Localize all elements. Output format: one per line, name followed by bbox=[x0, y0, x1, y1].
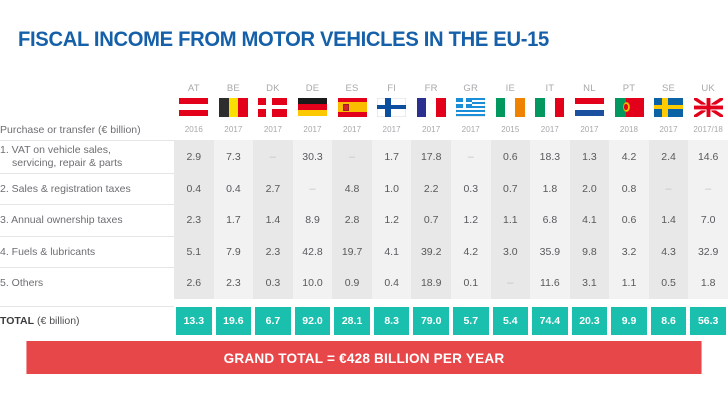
cell-value: 8.9 bbox=[305, 214, 320, 226]
cell-value: 11.6 bbox=[540, 277, 560, 289]
flag-wrapper bbox=[214, 98, 254, 117]
cell-value: 4.1 bbox=[384, 246, 399, 258]
country-code-cell: NL bbox=[570, 78, 610, 94]
cell-value: 0.3 bbox=[266, 277, 281, 289]
data-cell: 10.0 bbox=[293, 268, 333, 300]
spacer-cell bbox=[214, 299, 254, 306]
total-value: 6.7 bbox=[255, 307, 291, 335]
reference-year-cell: 2017 bbox=[253, 120, 293, 140]
country-flag-cell bbox=[491, 94, 531, 120]
country-flag-cell bbox=[372, 94, 412, 120]
total-value: 92.0 bbox=[295, 307, 331, 335]
cell-value: 18.9 bbox=[421, 277, 441, 289]
total-cell: 5.4 bbox=[491, 306, 531, 336]
row-label-line1: 1. VAT on vehicle sales, bbox=[0, 144, 174, 157]
data-cell: 0.3 bbox=[253, 268, 293, 300]
row-label-line1: 4. Fuels & lubricants bbox=[0, 246, 174, 259]
reference-year-cell: 2017 bbox=[570, 120, 610, 140]
reference-year-cell: 2017 bbox=[530, 120, 570, 140]
spacer-cell bbox=[411, 299, 451, 306]
reference-year: 2017 bbox=[649, 125, 689, 135]
country-flag-cell bbox=[332, 94, 372, 120]
cell-value: 4.1 bbox=[582, 214, 597, 226]
country-flag-cell bbox=[688, 94, 728, 120]
cell-value: 0.1 bbox=[463, 277, 478, 289]
country-flag-cell bbox=[411, 94, 451, 120]
data-cell: – bbox=[451, 140, 491, 173]
flag-wrapper bbox=[451, 98, 491, 117]
flag-wrapper bbox=[372, 98, 412, 117]
table-row: 5. Others2.62.30.310.00.90.418.90.1–11.6… bbox=[0, 268, 728, 300]
country-code-cell: SE bbox=[649, 78, 689, 94]
flag-sweden bbox=[654, 98, 683, 117]
table-row: 3. Annual ownership taxes2.31.71.48.92.8… bbox=[0, 205, 728, 237]
flag-wrapper bbox=[609, 98, 649, 117]
country-code-cell: UK bbox=[688, 78, 728, 94]
flag-wrapper bbox=[530, 98, 570, 117]
data-cell: 1.0 bbox=[372, 173, 412, 205]
row-label: 4. Fuels & lubricants bbox=[0, 236, 174, 268]
country-flag-cell bbox=[649, 94, 689, 120]
country-code-es: ES bbox=[332, 83, 372, 94]
spacer-cell bbox=[530, 299, 570, 306]
data-cell: 2.3 bbox=[174, 205, 214, 237]
cell-value: 2.3 bbox=[187, 214, 202, 226]
data-cell: 2.7 bbox=[253, 173, 293, 205]
spacer-cell bbox=[0, 78, 174, 94]
cell-value: 32.9 bbox=[698, 246, 718, 258]
country-code-cell: BE bbox=[214, 78, 254, 94]
reference-year: 2017 bbox=[332, 125, 372, 135]
data-cell: 1.1 bbox=[609, 268, 649, 300]
total-value: 79.0 bbox=[413, 307, 449, 335]
cell-value: 2.8 bbox=[345, 214, 360, 226]
table-spacer-row bbox=[0, 299, 728, 306]
country-flag-cell bbox=[174, 94, 214, 120]
cell-value: 4.2 bbox=[622, 151, 637, 163]
spacer-cell bbox=[0, 299, 174, 306]
data-cell: 0.9 bbox=[332, 268, 372, 300]
cell-value: 0.6 bbox=[622, 214, 637, 226]
cell-value: 42.8 bbox=[302, 246, 322, 258]
flag-wrapper bbox=[174, 98, 214, 117]
data-cell: 4.8 bbox=[332, 173, 372, 205]
total-row: TOTAL (€ billion)13.319.66.792.028.18.37… bbox=[0, 306, 728, 336]
spacer-cell bbox=[609, 299, 649, 306]
reference-year: 2017 bbox=[293, 125, 333, 135]
country-code-cell: IT bbox=[530, 78, 570, 94]
infographic-page: FISCAL INCOME FROM MOTOR VEHICLES IN THE… bbox=[0, 0, 728, 410]
reference-year-cell: 2017/18 bbox=[688, 120, 728, 140]
row-label-line1: 5. Others bbox=[0, 277, 174, 290]
country-code-cell: FI bbox=[372, 78, 412, 94]
spacer-cell bbox=[332, 299, 372, 306]
reference-year-cell: 2017 bbox=[372, 120, 412, 140]
total-cell: 92.0 bbox=[293, 306, 333, 336]
cell-value: 3.1 bbox=[582, 277, 597, 289]
cell-value: 1.1 bbox=[622, 277, 637, 289]
data-cell: 4.3 bbox=[649, 236, 689, 268]
reference-year: 2016 bbox=[174, 125, 214, 135]
row-label-line1: 2. Sales & registration taxes bbox=[0, 183, 174, 196]
total-cell: 6.7 bbox=[253, 306, 293, 336]
cell-value: 1.8 bbox=[543, 183, 558, 195]
cell-value: – bbox=[666, 183, 672, 195]
data-cell: 1.2 bbox=[451, 205, 491, 237]
spacer-cell bbox=[570, 299, 610, 306]
country-code-row: ATBEDKDEESFIFRGRIEITNLPTSEUK bbox=[0, 78, 728, 94]
reference-year: 2017 bbox=[411, 125, 451, 135]
reference-year: 2017 bbox=[372, 125, 412, 135]
row-label: 1. VAT on vehicle sales,servicing, repai… bbox=[0, 140, 174, 173]
data-cell: 2.3 bbox=[253, 236, 293, 268]
data-cell: 2.8 bbox=[332, 205, 372, 237]
data-cell: 7.3 bbox=[214, 140, 254, 173]
table-row: 2. Sales & registration taxes0.40.42.7–4… bbox=[0, 173, 728, 205]
page-title: FISCAL INCOME FROM MOTOR VEHICLES IN THE… bbox=[18, 27, 549, 52]
country-flag-cell bbox=[293, 94, 333, 120]
cell-value: 4.8 bbox=[345, 183, 360, 195]
total-cell: 9.9 bbox=[609, 306, 649, 336]
total-label-unit: (€ billion) bbox=[34, 315, 80, 327]
country-code-cell: AT bbox=[174, 78, 214, 94]
cell-value: 2.4 bbox=[661, 151, 676, 163]
country-code-fi: FI bbox=[372, 83, 412, 94]
cell-value: 6.8 bbox=[543, 214, 558, 226]
table-row: 1. VAT on vehicle sales,servicing, repai… bbox=[0, 140, 728, 173]
data-cell: 30.3 bbox=[293, 140, 333, 173]
country-flag-cell bbox=[214, 94, 254, 120]
spacer-cell bbox=[174, 299, 214, 306]
reference-year: 2017 bbox=[451, 125, 491, 135]
cell-value: 0.4 bbox=[187, 183, 202, 195]
data-cell: 2.9 bbox=[174, 140, 214, 173]
cell-value: 1.7 bbox=[226, 214, 241, 226]
data-cell: 39.2 bbox=[411, 236, 451, 268]
country-code-dk: DK bbox=[253, 83, 293, 94]
cell-value: 30.3 bbox=[302, 151, 322, 163]
cell-value: 2.3 bbox=[226, 277, 241, 289]
data-cell: 0.1 bbox=[451, 268, 491, 300]
data-cell: 1.2 bbox=[372, 205, 412, 237]
country-flag-row bbox=[0, 94, 728, 120]
data-cell: 0.6 bbox=[491, 140, 531, 173]
row-label: 5. Others bbox=[0, 268, 174, 300]
total-value: 9.9 bbox=[611, 307, 647, 335]
row-label-line2: servicing, repair & parts bbox=[0, 157, 174, 170]
data-cell: 4.1 bbox=[570, 205, 610, 237]
reference-year-cell: 2017 bbox=[649, 120, 689, 140]
country-code-fr: FR bbox=[411, 83, 451, 94]
total-cell: 8.6 bbox=[649, 306, 689, 336]
flag-netherlands bbox=[575, 98, 604, 117]
total-value: 74.4 bbox=[532, 307, 568, 335]
cell-value: – bbox=[349, 151, 355, 163]
data-cell: – bbox=[332, 140, 372, 173]
total-cell: 19.6 bbox=[214, 306, 254, 336]
total-label-bold: TOTAL bbox=[0, 315, 34, 327]
flag-wrapper bbox=[688, 98, 728, 117]
data-cell: 3.0 bbox=[491, 236, 531, 268]
country-flag-cell bbox=[609, 94, 649, 120]
cell-value: 0.7 bbox=[424, 214, 439, 226]
flag-denmark bbox=[258, 98, 287, 117]
cell-value: 1.0 bbox=[384, 183, 399, 195]
data-cell: 3.1 bbox=[570, 268, 610, 300]
data-cell: 18.9 bbox=[411, 268, 451, 300]
total-value: 56.3 bbox=[690, 307, 726, 335]
cell-value: 4.2 bbox=[463, 246, 478, 258]
cell-value: 0.5 bbox=[661, 277, 676, 289]
cell-value: 18.3 bbox=[540, 151, 560, 163]
data-cell: 19.7 bbox=[332, 236, 372, 268]
reference-year-cell: 2017 bbox=[214, 120, 254, 140]
data-cell: – bbox=[649, 173, 689, 205]
cell-value: 2.6 bbox=[187, 277, 202, 289]
country-code-cell: ES bbox=[332, 78, 372, 94]
country-flag-cell bbox=[253, 94, 293, 120]
reference-year-cell: 2018 bbox=[609, 120, 649, 140]
cell-value: 9.8 bbox=[582, 246, 597, 258]
cell-value: 1.1 bbox=[503, 214, 518, 226]
total-value: 13.3 bbox=[176, 307, 212, 335]
country-code-cell: DE bbox=[293, 78, 333, 94]
data-cell: 1.4 bbox=[253, 205, 293, 237]
data-cell: – bbox=[253, 140, 293, 173]
country-code-se: SE bbox=[649, 83, 689, 94]
flag-wrapper bbox=[411, 98, 451, 117]
data-cell: 17.8 bbox=[411, 140, 451, 173]
total-value: 19.6 bbox=[216, 307, 252, 335]
data-cell: 3.2 bbox=[609, 236, 649, 268]
flag-wrapper bbox=[649, 98, 689, 117]
country-code-nl: NL bbox=[570, 83, 610, 94]
total-value: 5.7 bbox=[453, 307, 489, 335]
flag-austria bbox=[179, 98, 208, 117]
spacer-cell bbox=[372, 299, 412, 306]
cell-value: 7.9 bbox=[226, 246, 241, 258]
cell-value: 2.7 bbox=[266, 183, 281, 195]
data-cell: 1.1 bbox=[491, 205, 531, 237]
data-cell: 2.0 bbox=[570, 173, 610, 205]
cell-value: 2.9 bbox=[187, 151, 202, 163]
reference-year: 2017 bbox=[570, 125, 610, 135]
cell-value: 0.4 bbox=[226, 183, 241, 195]
flag-finland bbox=[377, 98, 406, 117]
country-code-cell: IE bbox=[491, 78, 531, 94]
data-cell: 42.8 bbox=[293, 236, 333, 268]
cell-value: 1.4 bbox=[661, 214, 676, 226]
country-code-uk: UK bbox=[688, 83, 728, 94]
total-row-label: TOTAL (€ billion) bbox=[0, 306, 174, 336]
cell-value: 17.8 bbox=[421, 151, 441, 163]
reference-year-row: Purchase or transfer (€ billion)20162017… bbox=[0, 120, 728, 140]
fiscal-income-table: ATBEDKDEESFIFRGRIEITNLPTSEUKPurchase or … bbox=[0, 78, 728, 336]
data-cell: 1.8 bbox=[688, 268, 728, 300]
data-cell: – bbox=[491, 268, 531, 300]
country-flag-cell bbox=[570, 94, 610, 120]
cell-value: 7.3 bbox=[226, 151, 241, 163]
table-header-label: Purchase or transfer (€ billion) bbox=[0, 120, 174, 140]
total-cell: 5.7 bbox=[451, 306, 491, 336]
cell-value: 1.4 bbox=[266, 214, 281, 226]
cell-value: 5.1 bbox=[187, 246, 202, 258]
reference-year-cell: 2016 bbox=[174, 120, 214, 140]
reference-year-cell: 2017 bbox=[451, 120, 491, 140]
country-code-cell: DK bbox=[253, 78, 293, 94]
country-flag-cell bbox=[451, 94, 491, 120]
flag-wrapper bbox=[332, 98, 372, 117]
data-cell: 4.2 bbox=[609, 140, 649, 173]
cell-value: 1.2 bbox=[384, 214, 399, 226]
flag-italy bbox=[535, 98, 564, 117]
total-value: 8.6 bbox=[651, 307, 687, 335]
flag-wrapper bbox=[491, 98, 531, 117]
cell-value: 14.6 bbox=[698, 151, 718, 163]
flag-wrapper bbox=[253, 98, 293, 117]
country-code-at: AT bbox=[174, 83, 214, 94]
cell-value: 1.7 bbox=[384, 151, 399, 163]
flag-unitedkingdom bbox=[694, 98, 723, 117]
data-cell: 4.2 bbox=[451, 236, 491, 268]
data-cell: 2.3 bbox=[214, 268, 254, 300]
data-cell: 1.7 bbox=[214, 205, 254, 237]
spacer-cell bbox=[253, 299, 293, 306]
spacer-cell bbox=[0, 94, 174, 120]
reference-year-cell: 2017 bbox=[332, 120, 372, 140]
spacer-cell bbox=[451, 299, 491, 306]
total-cell: 13.3 bbox=[174, 306, 214, 336]
country-code-it: IT bbox=[530, 83, 570, 94]
cell-value: 1.2 bbox=[463, 214, 478, 226]
data-cell: 2.6 bbox=[174, 268, 214, 300]
data-cell: – bbox=[293, 173, 333, 205]
cell-value: 0.8 bbox=[622, 183, 637, 195]
data-cell: 9.8 bbox=[570, 236, 610, 268]
cell-value: – bbox=[270, 151, 276, 163]
data-cell: 8.9 bbox=[293, 205, 333, 237]
flag-spain bbox=[338, 98, 367, 117]
reference-year-cell: 2015 bbox=[491, 120, 531, 140]
data-cell: 35.9 bbox=[530, 236, 570, 268]
data-cell: 0.7 bbox=[491, 173, 531, 205]
row-label: 3. Annual ownership taxes bbox=[0, 205, 174, 237]
reference-year-cell: 2017 bbox=[293, 120, 333, 140]
spacer-cell bbox=[649, 299, 689, 306]
row-label: 2. Sales & registration taxes bbox=[0, 173, 174, 205]
data-cell: 11.6 bbox=[530, 268, 570, 300]
country-code-cell: FR bbox=[411, 78, 451, 94]
total-value: 5.4 bbox=[493, 307, 529, 335]
total-cell: 56.3 bbox=[688, 306, 728, 336]
row-label-line1: 3. Annual ownership taxes bbox=[0, 214, 174, 227]
cell-value: 19.7 bbox=[342, 246, 362, 258]
cell-value: 3.0 bbox=[503, 246, 518, 258]
cell-value: – bbox=[507, 277, 513, 289]
spacer-cell bbox=[293, 299, 333, 306]
data-cell: 1.7 bbox=[372, 140, 412, 173]
cell-value: 7.0 bbox=[701, 214, 716, 226]
cell-value: – bbox=[705, 183, 711, 195]
data-cell: 0.5 bbox=[649, 268, 689, 300]
country-code-be: BE bbox=[214, 83, 254, 94]
data-cell: 1.4 bbox=[649, 205, 689, 237]
cell-value: – bbox=[468, 151, 474, 163]
spacer-cell bbox=[688, 299, 728, 306]
cell-value: 0.3 bbox=[463, 183, 478, 195]
cell-value: 1.3 bbox=[582, 151, 597, 163]
flag-greece bbox=[456, 98, 485, 117]
data-cell: 0.3 bbox=[451, 173, 491, 205]
country-code-gr: GR bbox=[451, 83, 491, 94]
country-code-cell: GR bbox=[451, 78, 491, 94]
data-cell: 0.7 bbox=[411, 205, 451, 237]
flag-wrapper bbox=[293, 98, 333, 117]
data-cell: 1.8 bbox=[530, 173, 570, 205]
cell-value: 0.9 bbox=[345, 277, 360, 289]
cell-value: 2.3 bbox=[266, 246, 281, 258]
total-cell: 28.1 bbox=[332, 306, 372, 336]
country-code-ie: IE bbox=[491, 83, 531, 94]
flag-ireland bbox=[496, 98, 525, 117]
total-cell: 74.4 bbox=[530, 306, 570, 336]
country-code-pt: PT bbox=[609, 83, 649, 94]
data-cell: 2.2 bbox=[411, 173, 451, 205]
data-cell: 2.4 bbox=[649, 140, 689, 173]
total-cell: 20.3 bbox=[570, 306, 610, 336]
data-cell: 6.8 bbox=[530, 205, 570, 237]
reference-year: 2015 bbox=[491, 125, 531, 135]
data-cell: 0.4 bbox=[214, 173, 254, 205]
cell-value: 3.2 bbox=[622, 246, 637, 258]
cell-value: 0.4 bbox=[384, 277, 399, 289]
data-cell: 0.4 bbox=[174, 173, 214, 205]
data-cell: 4.1 bbox=[372, 236, 412, 268]
total-cell: 8.3 bbox=[372, 306, 412, 336]
total-value: 28.1 bbox=[334, 307, 370, 335]
data-cell: 14.6 bbox=[688, 140, 728, 173]
data-cell: 7.9 bbox=[214, 236, 254, 268]
data-cell: 0.6 bbox=[609, 205, 649, 237]
flag-france bbox=[417, 98, 446, 117]
reference-year: 2017/18 bbox=[688, 125, 728, 135]
data-cell: – bbox=[688, 173, 728, 205]
flag-portugal bbox=[615, 98, 644, 117]
data-table: ATBEDKDEESFIFRGRIEITNLPTSEUKPurchase or … bbox=[0, 78, 728, 336]
flag-belgium bbox=[219, 98, 248, 117]
cell-value: 0.7 bbox=[503, 183, 518, 195]
total-value: 8.3 bbox=[374, 307, 410, 335]
cell-value: 10.0 bbox=[302, 277, 322, 289]
grand-total-text: GRAND TOTAL = €428 BILLION PER YEAR bbox=[224, 350, 505, 366]
flag-germany bbox=[298, 98, 327, 117]
table-row: 4. Fuels & lubricants5.17.92.342.819.74.… bbox=[0, 236, 728, 268]
cell-value: 0.6 bbox=[503, 151, 518, 163]
total-value: 20.3 bbox=[572, 307, 608, 335]
data-cell: 5.1 bbox=[174, 236, 214, 268]
data-cell: 0.8 bbox=[609, 173, 649, 205]
data-cell: 7.0 bbox=[688, 205, 728, 237]
cell-value: 39.2 bbox=[421, 246, 441, 258]
reference-year: 2018 bbox=[609, 125, 649, 135]
cell-value: 2.2 bbox=[424, 183, 439, 195]
reference-year: 2017 bbox=[214, 125, 254, 135]
cell-value: 2.0 bbox=[582, 183, 597, 195]
total-cell: 79.0 bbox=[411, 306, 451, 336]
grand-total-banner: GRAND TOTAL = €428 BILLION PER YEAR bbox=[26, 341, 701, 374]
reference-year: 2017 bbox=[253, 125, 293, 135]
country-flag-cell bbox=[530, 94, 570, 120]
